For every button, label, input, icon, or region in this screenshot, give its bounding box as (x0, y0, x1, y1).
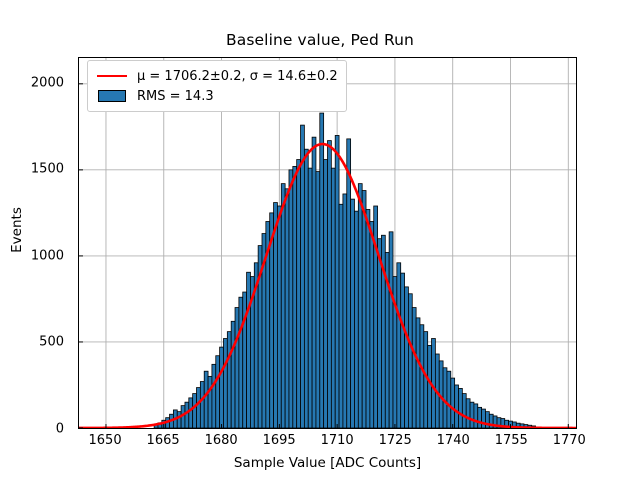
legend-patch-swatch (95, 87, 129, 105)
x-tick-label: 1725 (379, 433, 412, 448)
legend-line-swatch (95, 67, 129, 85)
chart-data-layer (79, 58, 576, 428)
legend: μ = 1706.2±0.2, σ = 14.6±0.2 RMS = 14.3 (87, 60, 347, 112)
legend-item-fit: μ = 1706.2±0.2, σ = 14.6±0.2 (95, 66, 338, 86)
x-tick-label: 1680 (205, 433, 238, 448)
y-tick-label: 1500 (31, 162, 64, 177)
x-axis-label: Sample Value [ADC Counts] (78, 455, 577, 471)
plot-area (78, 57, 577, 429)
x-tick-label: 1755 (495, 433, 528, 448)
x-tick-label: 1650 (89, 433, 122, 448)
x-axis-tick-labels: 165016651680169517101725174017551770 (78, 433, 577, 453)
legend-item-label: RMS = 14.3 (137, 89, 214, 104)
y-tick-label: 2000 (31, 75, 64, 90)
x-tick-label: 1740 (437, 433, 470, 448)
x-tick-label: 1710 (321, 433, 354, 448)
legend-item-label: μ = 1706.2±0.2, σ = 14.6±0.2 (137, 69, 338, 84)
x-tick-label: 1665 (147, 433, 180, 448)
legend-item-histogram: RMS = 14.3 (95, 86, 338, 106)
y-axis-label: Events (9, 180, 25, 280)
y-tick-label: 500 (39, 335, 64, 350)
histogram-figure: Baseline value, Ped Run 1650166516801695… (0, 0, 640, 480)
page-title: Baseline value, Ped Run (0, 31, 640, 49)
x-tick-label: 1695 (263, 433, 296, 448)
y-tick-label: 0 (56, 422, 64, 437)
y-tick-label: 1000 (31, 248, 64, 263)
x-tick-label: 1770 (553, 433, 586, 448)
